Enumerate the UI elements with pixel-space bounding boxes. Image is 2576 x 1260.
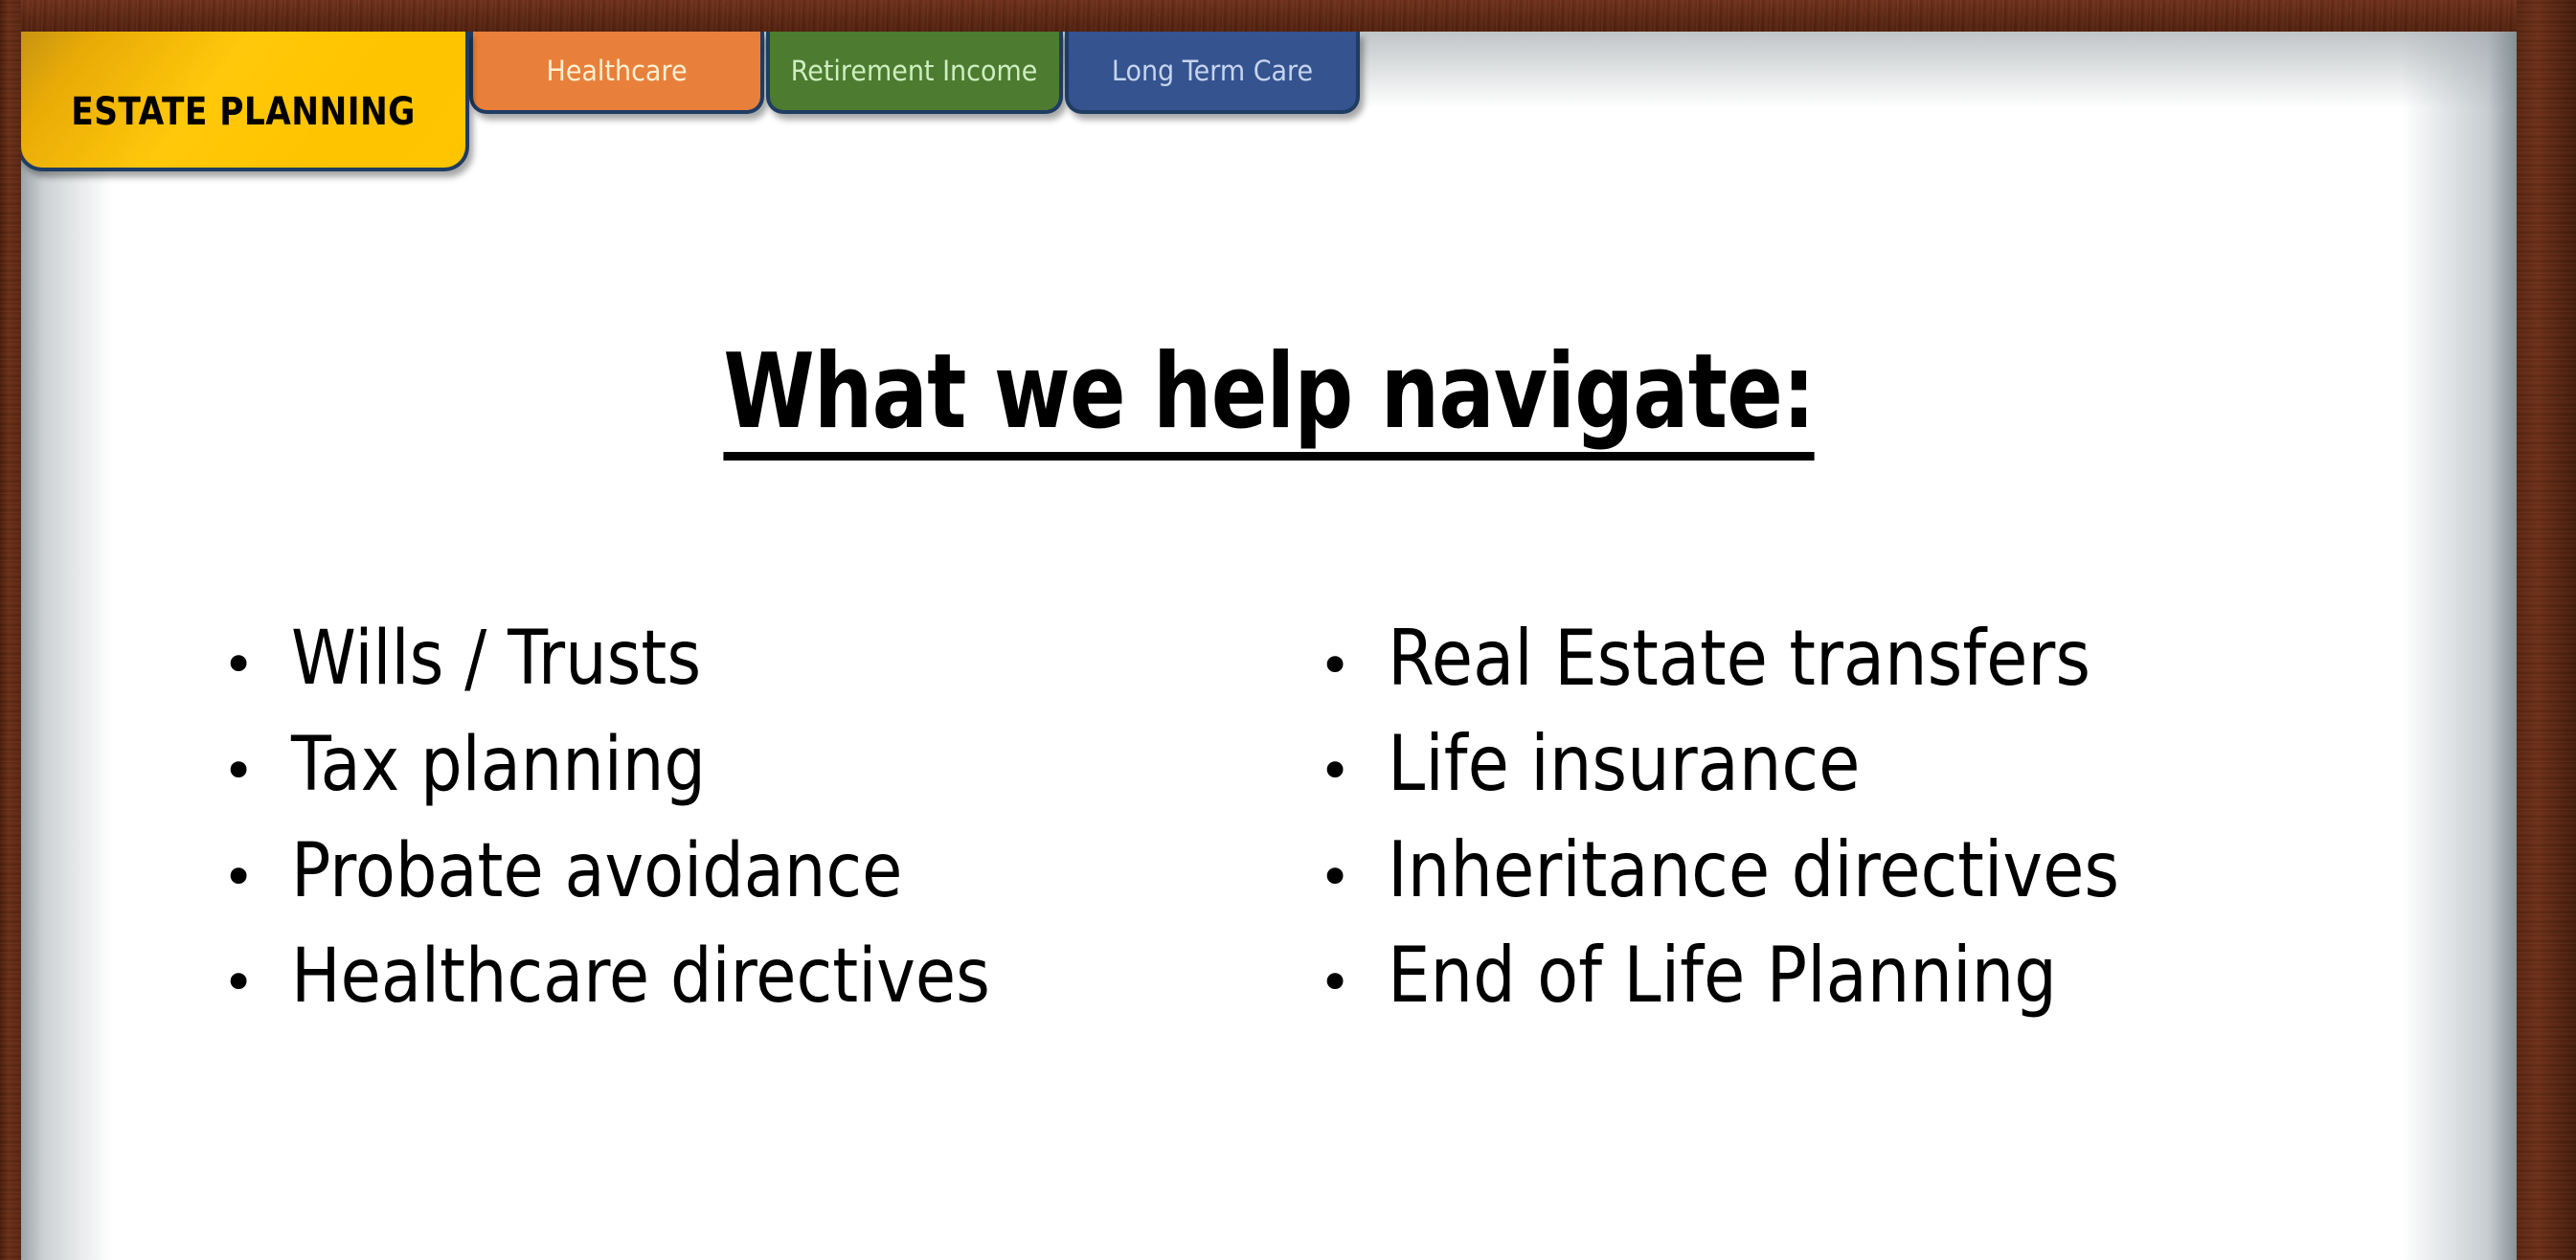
tab-long-term-care-label: Long Term Care	[1112, 57, 1313, 85]
bullet-dot-icon: •	[1319, 943, 1388, 1022]
frame-top-rail	[0, 0, 2576, 33]
list-item: • Probate avoidance	[222, 819, 1309, 925]
list-item-label: Life insurance	[1388, 711, 1860, 817]
list-item-label: Tax planning	[291, 712, 706, 819]
tab-estate-planning-label: ESTATE PLANNING	[71, 68, 416, 131]
bullet-dot-icon: •	[1319, 731, 1388, 810]
list-item: • Inheritance directives	[1319, 818, 2517, 923]
list-item-label: Probate avoidance	[291, 819, 902, 925]
slide-wooden-frame: ESTATE PLANNING Healthcare Retirement In…	[0, 0, 2576, 1260]
bullet-dot-icon: •	[222, 943, 291, 1022]
frame-left-rail	[0, 0, 21, 1260]
tab-healthcare[interactable]: Healthcare	[469, 32, 764, 114]
list-item: • Tax planning	[222, 712, 1309, 819]
list-item-label: Wills / Trusts	[291, 606, 701, 712]
bullet-columns: • Wills / Trusts • Tax planning • Probat…	[21, 606, 2517, 1030]
bullet-column-right: • Real Estate transfers • Life insurance…	[1309, 606, 2517, 1030]
bullet-column-left: • Wills / Trusts • Tax planning • Probat…	[21, 606, 1309, 1030]
list-item-label: End of Life Planning	[1388, 923, 2057, 1028]
bullet-dot-icon: •	[222, 731, 291, 810]
tab-retirement-income-label: Retirement Income	[791, 57, 1038, 85]
tab-retirement-income[interactable]: Retirement Income	[766, 32, 1063, 114]
list-item-label: Healthcare directives	[291, 924, 990, 1030]
list-item: • Healthcare directives	[222, 924, 1309, 1030]
list-item-label: Inheritance directives	[1388, 818, 2119, 923]
tab-estate-planning[interactable]: ESTATE PLANNING	[21, 32, 469, 171]
bullet-dot-icon: •	[222, 625, 291, 704]
list-item: • Wills / Trusts	[222, 606, 1309, 712]
tab-bar: ESTATE PLANNING Healthcare Retirement In…	[21, 32, 2517, 185]
slide-title-text: What we help navigate:	[723, 338, 1814, 461]
tab-long-term-care[interactable]: Long Term Care	[1065, 32, 1360, 114]
list-item: • End of Life Planning	[1319, 923, 2517, 1028]
bullet-dot-icon: •	[222, 838, 291, 916]
list-item: • Life insurance	[1319, 711, 2517, 817]
list-item: • Real Estate transfers	[1319, 606, 2517, 711]
slide-title: What we help navigate:	[21, 338, 2517, 461]
tab-healthcare-label: Healthcare	[546, 57, 687, 85]
slide-canvas: ESTATE PLANNING Healthcare Retirement In…	[21, 32, 2517, 1260]
frame-right-rail	[2517, 0, 2576, 1260]
bullet-dot-icon: •	[1319, 626, 1388, 705]
list-item-label: Real Estate transfers	[1388, 606, 2090, 711]
bullet-dot-icon: •	[1319, 838, 1388, 916]
